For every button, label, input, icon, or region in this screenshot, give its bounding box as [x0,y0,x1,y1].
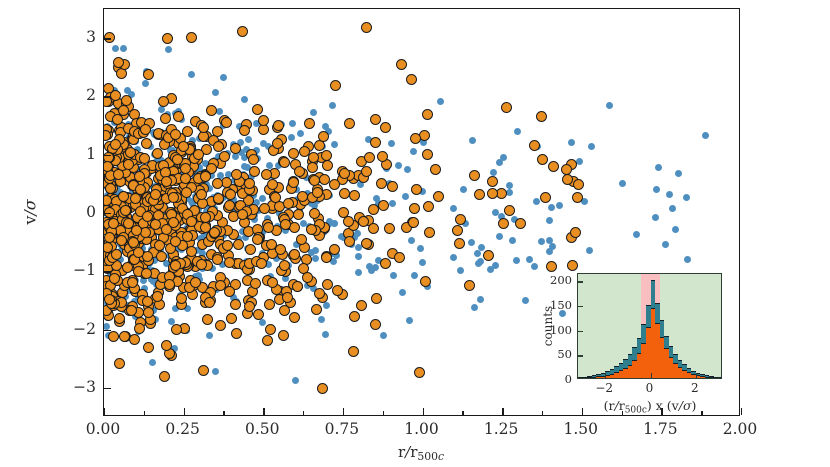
scatter-point-orange [312,187,323,198]
scatter-point-orange [408,217,419,228]
scatter-point-orange [361,166,372,177]
scatter-point-orange [567,260,578,271]
scatter-point-orange [289,249,300,260]
scatter-point-orange [134,171,145,182]
scatter-point-orange [410,133,421,144]
y-tick-label: −1 [36,261,96,279]
scatter-point-orange [293,209,304,220]
x-tick-minor [303,411,304,415]
scatter-point-blue [548,204,555,211]
x-tick-label: 1.75 [643,420,678,438]
scatter-point-blue [669,205,676,212]
scatter-point-orange [376,178,387,189]
scatter-point-orange [114,313,125,324]
scatter-point-orange [108,331,119,342]
scatter-point-orange [186,216,197,227]
scatter-point-blue [322,331,329,338]
scatter-point-blue [188,71,195,78]
inset-histogram-axes [577,273,722,379]
scatter-point-orange [222,240,233,251]
scatter-point-blue [684,256,691,263]
scatter-point-blue [702,132,709,139]
scatter-point-orange [213,141,224,152]
scatter-point-orange [120,205,131,216]
scatter-point-orange [156,251,167,262]
scatter-point-blue [408,237,415,244]
y-tick [104,330,111,331]
inset-y-tick-label: 0 [534,372,572,386]
scatter-point-orange [498,218,509,229]
scatter-point-blue [288,134,295,141]
scatter-point-orange [134,323,145,334]
scatter-point-blue [417,245,424,252]
scatter-point-orange [396,59,407,70]
x-tick-label: 0.25 [165,420,200,438]
scatter-point-blue [506,189,513,196]
scatter-point-orange [168,192,179,203]
scatter-point-blue [471,304,478,311]
scatter-point-blue [556,202,563,209]
scatter-point-blue [477,296,484,303]
scatter-point-orange [370,319,381,330]
scatter-point-blue [568,139,575,146]
scatter-point-orange [178,141,189,152]
scatter-point-orange [321,150,332,161]
scatter-point-orange [504,205,515,216]
scatter-point-orange [224,286,235,297]
scatter-point-orange [171,324,182,335]
scatter-point-orange [358,216,369,227]
y-tick-label: 2 [36,86,96,104]
scatter-point-blue [460,186,467,193]
scatter-point-orange [487,188,498,199]
scatter-point-blue [241,96,248,103]
scatter-point-orange [469,170,480,181]
scatter-point-orange [111,249,122,260]
scatter-point-orange [237,26,248,37]
scatter-point-orange [288,177,299,188]
scatter-point-orange [258,115,269,126]
scatter-point-orange [182,231,193,242]
scatter-point-blue [546,248,553,255]
scatter-point-orange [515,218,526,229]
scatter-point-orange [233,239,244,250]
scatter-point-blue [142,80,149,87]
x-tick-label: 1.25 [484,420,519,438]
scatter-point-orange [540,192,551,203]
scatter-point-blue [474,250,481,257]
scatter-point-blue [241,163,248,170]
scatter-point-orange [118,105,129,116]
inset-y-tick-label: 200 [534,273,572,287]
scatter-point-blue [509,237,516,244]
scatter-point-blue [662,241,669,248]
scatter-point-orange [288,148,299,159]
scatter-point-blue [586,247,593,254]
scatter-point-orange [272,138,283,149]
scatter-point-orange [224,200,235,211]
x-tick [423,408,424,415]
scatter-point-blue [419,259,426,266]
scatter-point-orange [329,179,340,190]
scatter-point-orange [378,200,389,211]
scatter-point-orange [279,157,290,168]
scatter-point-blue [318,316,325,323]
scatter-point-orange [349,190,360,201]
scatter-point-orange [249,166,260,177]
y-tick [104,213,111,214]
scatter-point-orange [244,178,255,189]
scatter-point-orange [143,69,154,80]
x-tick [502,408,503,415]
scatter-point-blue [450,205,457,212]
scatter-point-blue [655,164,662,171]
scatter-point-orange [319,174,330,185]
scatter-point-blue [329,102,336,109]
scatter-point-blue [496,233,503,240]
scatter-point-blue [206,332,213,339]
scatter-point-blue [289,120,296,127]
x-tick [343,408,344,415]
scatter-point-orange [423,201,434,212]
scatter-point-orange [133,247,144,258]
y-tick-label: 0 [36,203,96,221]
scatter-point-orange [414,367,425,378]
inset-x-tick [696,373,697,378]
scatter-point-blue [606,102,613,109]
scatter-point-orange [322,160,333,171]
scatter-point-orange [109,273,120,284]
scatter-point-blue [165,46,172,53]
scatter-point-orange [501,102,512,113]
scatter-point-orange [125,147,136,158]
scatter-point-orange [161,224,172,235]
scatter-point-blue [389,200,396,207]
scatter-point-blue [450,254,457,261]
scatter-point-orange [546,261,557,272]
scatter-point-orange [280,219,291,230]
scatter-point-orange [537,154,548,165]
scatter-point-orange [104,294,115,305]
scatter-point-orange [455,214,466,225]
scatter-point-blue [212,368,219,375]
scatter-point-orange [140,124,151,135]
scatter-point-orange [311,304,322,315]
scatter-point-blue [468,239,475,246]
scatter-point-blue [380,332,387,339]
scatter-point-orange [180,173,191,184]
scatter-point-blue [437,98,444,105]
scatter-point-orange [548,161,559,172]
scatter-point-orange [562,174,573,185]
scatter-point-orange [344,236,355,247]
scatter-point-orange [159,371,170,382]
scatter-point-orange [406,74,417,85]
scatter-point-orange [164,279,175,290]
inset-y-tick [578,331,583,332]
scatter-point-blue [513,257,520,264]
scatter-point-orange [200,171,211,182]
scatter-point-orange [289,222,300,233]
scatter-point-orange [114,358,125,369]
histogram-bar [718,377,722,378]
scatter-point-orange [409,203,420,214]
x-tick-minor [144,411,145,415]
scatter-point-blue [331,141,338,148]
scatter-point-blue [666,191,673,198]
scatter-point-orange [356,300,367,311]
scatter-point-blue [297,130,304,137]
scatter-point-blue [500,154,507,161]
scatter-point-blue [538,238,545,245]
scatter-point-blue [216,108,223,115]
x-tick-label: 2.00 [723,420,758,438]
scatter-point-blue [120,45,127,52]
scatter-point-orange [250,278,261,289]
scatter-point-orange [190,277,201,288]
scatter-point-orange [487,176,498,187]
scatter-point-blue [323,302,330,309]
scatter-point-orange [176,293,187,304]
scatter-point-blue [310,109,317,116]
x-tick-label: 1.50 [563,420,598,438]
scatter-point-blue [373,195,380,202]
scatter-point-orange [344,118,355,129]
scatter-point-blue [653,186,660,193]
scatter-point-orange [206,105,217,116]
scatter-point-orange [244,301,255,312]
scatter-point-blue [259,195,266,202]
scatter-point-orange [279,260,290,271]
scatter-point-blue [404,166,411,173]
scatter-point-orange [368,223,379,234]
scatter-point-orange [143,342,154,353]
scatter-point-orange [154,240,165,251]
scatter-point-blue [652,214,659,221]
x-axis-label: r/r500c [398,443,444,463]
scatter-point-orange [289,312,300,323]
scatter-point-orange [215,320,226,331]
scatter-point-blue [487,266,494,273]
x-tick-label: 1.00 [404,420,439,438]
y-tick-label: 3 [36,28,96,46]
scatter-point-orange [318,131,329,142]
scatter-point-blue [399,289,406,296]
scatter-point-blue [633,231,640,238]
scatter-point-orange [348,346,359,357]
scatter-point-blue [212,89,219,96]
scatter-point-blue [522,297,529,304]
y-tick [104,155,111,156]
scatter-point-orange [299,146,310,157]
scatter-point-orange [265,324,276,335]
scatter-point-blue [672,226,679,233]
y-axis-label: v/σ [21,199,40,224]
scatter-point-orange [387,181,398,192]
scatter-point-orange [226,313,237,324]
scatter-point-orange [196,259,207,270]
scatter-point-orange [212,178,223,189]
scatter-point-blue [410,148,417,155]
scatter-point-orange [371,293,382,304]
y-tick-label: −2 [36,320,96,338]
scatter-point-orange [126,305,137,316]
scatter-point-orange [394,252,405,263]
scatter-point-orange [123,159,134,170]
scatter-point-blue [411,272,418,279]
scatter-point-orange [230,299,241,310]
scatter-point-blue [406,317,413,324]
scatter-point-orange [215,280,226,291]
inset-y-axis-label: counts [541,306,555,346]
scatter-point-orange [161,340,172,351]
scatter-point-blue [469,137,476,144]
scatter-point-orange [152,291,163,302]
scatter-point-blue [526,256,533,263]
scatter-point-orange [361,22,372,33]
scatter-point-orange [370,114,381,125]
scatter-point-orange [113,169,124,180]
scatter-point-blue [475,260,482,267]
scatter-point-orange [483,250,494,261]
scatter-point-blue [372,264,379,271]
scatter-point-orange [160,113,171,124]
scatter-point-orange [104,161,113,172]
scatter-point-blue [683,194,690,201]
scatter-point-orange [330,80,341,91]
inset-x-axis-label: (r/r500c) x (v/σ) [604,398,697,416]
scatter-point-orange [570,227,581,238]
scatter-point-orange [252,104,263,115]
scatter-point-blue [402,193,409,200]
scatter-point-orange [141,138,152,149]
x-tick-minor [542,411,543,415]
x-tick [184,408,185,415]
x-tick [582,408,583,415]
x-tick-minor [462,411,463,415]
scatter-point-orange [193,149,204,160]
scatter-point-orange [202,314,213,325]
scatter-point-orange [262,335,273,346]
inset-y-tick [578,281,583,282]
y-tick [104,38,111,39]
scatter-point-orange [474,189,485,200]
x-tick-label: 0.00 [86,420,121,438]
inset-x-tick [651,373,652,378]
scatter-point-orange [204,297,215,308]
scatter-point-orange [384,223,395,234]
y-tick [104,388,111,389]
scatter-point-orange [142,296,153,307]
scatter-point-blue [388,140,395,147]
scatter-point-orange [248,154,259,165]
scatter-point-blue [390,272,397,279]
scatter-point-orange [380,122,391,133]
x-tick-minor [223,411,224,415]
scatter-point-orange [198,365,209,376]
scatter-point-blue [112,45,119,52]
scatter-point-blue [220,74,227,81]
scatter-point-orange [349,311,360,322]
scatter-point-orange [239,125,250,136]
scatter-point-orange [430,164,441,175]
scatter-point-orange [377,151,388,162]
scatter-point-blue [531,263,538,270]
x-tick-minor [701,411,702,415]
scatter-point-orange [162,33,173,44]
scatter-point-orange [364,152,375,163]
x-tick [263,408,264,415]
scatter-point-orange [267,277,278,288]
scatter-point-blue [312,255,319,262]
scatter-point-blue [292,377,299,384]
scatter-point-orange [186,32,197,43]
scatter-point-blue [514,128,521,135]
x-tick-label: 0.75 [325,420,360,438]
inset-x-tick [605,373,606,378]
scatter-point-orange [198,122,209,133]
scatter-point-orange [198,131,209,142]
scatter-point-orange [561,164,572,175]
scatter-point-blue [395,162,402,169]
scatter-point-orange [321,252,332,263]
scatter-point-orange [454,238,465,249]
scatter-point-blue [533,198,540,205]
scatter-point-orange [131,225,142,236]
scatter-point-orange [302,272,313,283]
x-tick-label: 0.50 [245,420,280,438]
scatter-point-blue [149,359,156,366]
inset-x-tick-label: −2 [595,381,613,395]
scatter-point-orange [128,237,139,248]
scatter-point-blue [478,244,485,251]
y-tick [104,271,111,272]
scatter-point-blue [576,158,583,165]
x-tick [104,408,105,415]
y-tick-label: 1 [36,145,96,163]
scatter-point-orange [370,137,381,148]
scatter-point-orange [317,383,328,394]
scatter-point-orange [158,96,169,107]
scatter-point-orange [433,191,444,202]
scatter-point-blue [675,170,682,177]
x-tick [741,408,742,415]
scatter-point-orange [452,225,463,236]
scatter-point-orange [573,179,584,190]
scatter-point-orange [221,117,232,128]
scatter-point-orange [245,244,256,255]
scatter-point-blue [457,267,464,274]
scatter-point-blue [588,143,595,150]
scatter-point-orange [536,111,547,122]
scatter-point-blue [245,136,252,143]
inset-x-tick-label: 2 [691,381,699,395]
inset-y-tick [578,306,583,307]
scatter-point-orange [231,169,242,180]
scatter-point-orange [304,118,315,129]
scatter-point-orange [278,330,289,341]
scatter-point-blue [619,180,626,187]
scatter-point-blue [546,217,553,224]
scatter-point-orange [139,153,150,164]
scatter-point-orange [231,328,242,339]
scatter-point-orange [200,222,211,233]
scatter-point-orange [368,204,379,215]
scatter-point-orange [296,234,307,245]
scatter-point-orange [170,129,181,140]
phase-space-figure: 0.000.250.500.751.001.251.501.752.00−3−2… [0,0,830,467]
scatter-point-orange [142,211,153,222]
